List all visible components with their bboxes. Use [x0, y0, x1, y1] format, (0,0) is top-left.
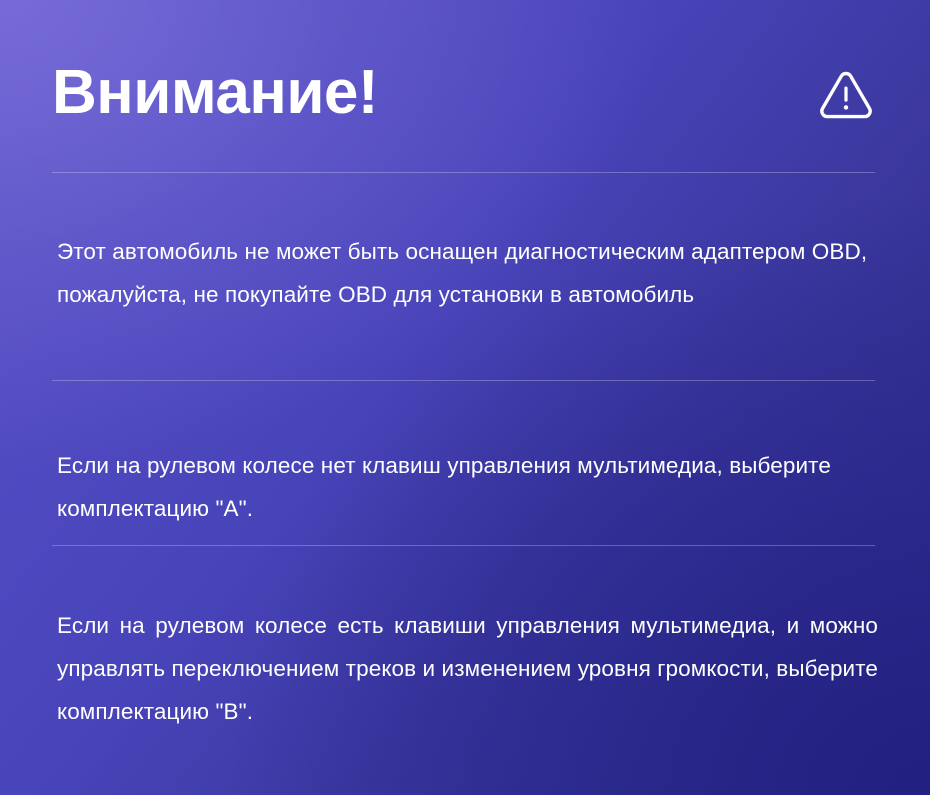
notice-header: Внимание!: [52, 52, 878, 136]
warning-notice-card: Внимание! Этот автомобиль не может быть …: [0, 0, 930, 795]
warning-triangle-icon: [818, 66, 878, 122]
page-title: Внимание!: [52, 62, 378, 124]
divider: [52, 545, 875, 546]
divider: [52, 172, 875, 173]
notice-text-trim-a: Если на рулевом колесе нет клавиш управл…: [57, 444, 878, 530]
notice-text-obd: Этот автомобиль не может быть оснащен ди…: [57, 230, 878, 316]
notice-text-trim-b: Если на рулевом колесе есть клавиши упра…: [57, 604, 878, 733]
divider: [52, 380, 875, 381]
